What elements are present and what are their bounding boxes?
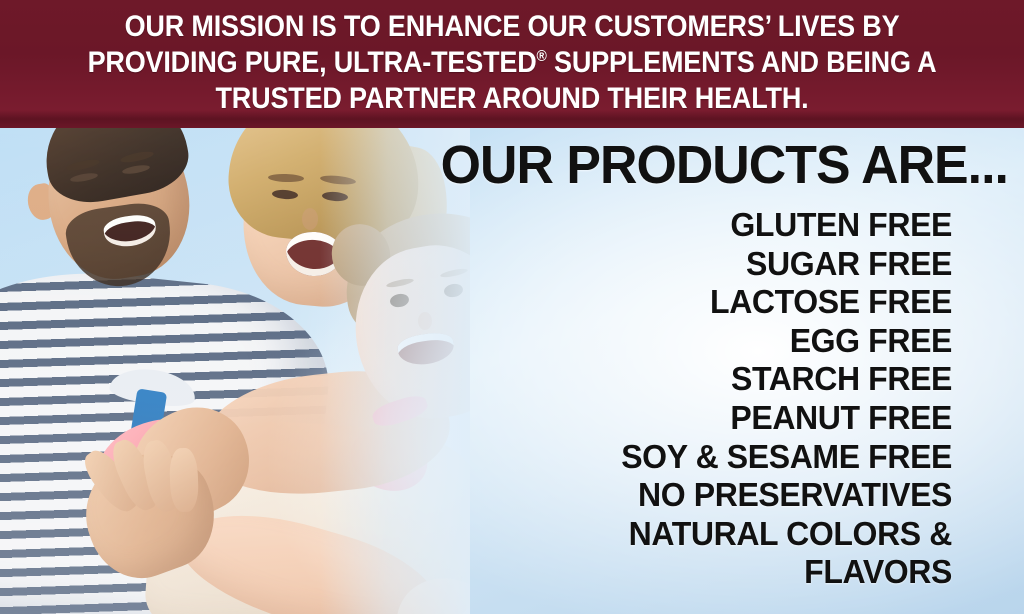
- list-item: GLUTEN FREE: [417, 206, 952, 245]
- list-item: NO PRESERVATIVES: [417, 476, 952, 515]
- promo-banner: OUR MISSION IS TO ENHANCE OUR CUSTOMERS’…: [0, 0, 1024, 614]
- mission-line-2-part-a: PROVIDING PURE, ULTRA-TESTED: [88, 46, 537, 79]
- mission-line-1: OUR MISSION IS TO ENHANCE OUR CUSTOMERS’…: [125, 10, 900, 43]
- registered-trademark-icon: ®: [537, 48, 547, 65]
- list-item: NATURAL COLORS &: [417, 515, 952, 554]
- list-item: PEANUT FREE: [417, 399, 952, 438]
- father-finger-4: [169, 448, 199, 513]
- list-item: EGG FREE: [417, 322, 952, 361]
- products-heading: OUR PRODUCTS ARE...: [424, 136, 1008, 194]
- list-item: FLAVORS: [417, 553, 952, 592]
- mission-line-2-part-b: SUPPLEMENTS AND BEING A: [547, 46, 937, 79]
- mother-nose: [302, 208, 318, 230]
- list-item: STARCH FREE: [417, 360, 952, 399]
- list-item: LACTOSE FREE: [417, 283, 952, 322]
- mission-header: OUR MISSION IS TO ENHANCE OUR CUSTOMERS’…: [0, 0, 1024, 128]
- mission-line-3: TRUSTED PARTNER AROUND THEIR HEALTH.: [215, 82, 808, 115]
- list-item: SUGAR FREE: [417, 245, 952, 284]
- content-area: OUR PRODUCTS ARE... GLUTEN FREE SUGAR FR…: [0, 128, 1024, 614]
- list-item: SOY & SESAME FREE: [417, 438, 952, 477]
- products-claim-list: GLUTEN FREE SUGAR FREE LACTOSE FREE EGG …: [400, 206, 952, 592]
- mission-statement: OUR MISSION IS TO ENHANCE OUR CUSTOMERS’…: [62, 9, 962, 119]
